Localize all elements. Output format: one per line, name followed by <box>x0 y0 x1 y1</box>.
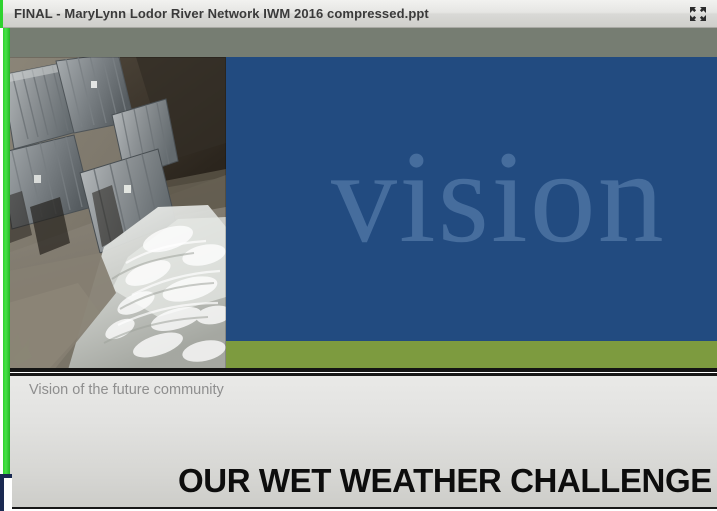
left-accent-rail <box>3 24 10 478</box>
slide-blue-panel: vision <box>226 57 717 341</box>
caption-subtitle: Vision of the future community <box>29 382 224 398</box>
slide-olive-band <box>226 341 717 370</box>
presentation-viewer: FINAL - MaryLynn Lodor River Network IWM… <box>0 0 717 511</box>
slide-caption-panel[interactable]: Vision of the future community OUR WET W… <box>10 373 717 509</box>
left-rail-cap-inner <box>4 478 12 511</box>
fullscreen-icon[interactable] <box>687 4 709 24</box>
slide-top-band <box>6 28 717 57</box>
window-title: FINAL - MaryLynn Lodor River Network IWM… <box>14 0 429 28</box>
vision-watermark-text: vision <box>331 131 666 263</box>
combined-sewer-overflow-photo <box>8 57 226 370</box>
slide-canvas[interactable]: vision <box>6 28 717 370</box>
caption-headline: OUR WET WEATHER CHALLENGE <box>178 462 712 500</box>
slide-bottom-rule <box>6 368 717 372</box>
window-titlebar: FINAL - MaryLynn Lodor River Network IWM… <box>0 0 717 28</box>
titlebar-accent-rail <box>0 0 3 28</box>
